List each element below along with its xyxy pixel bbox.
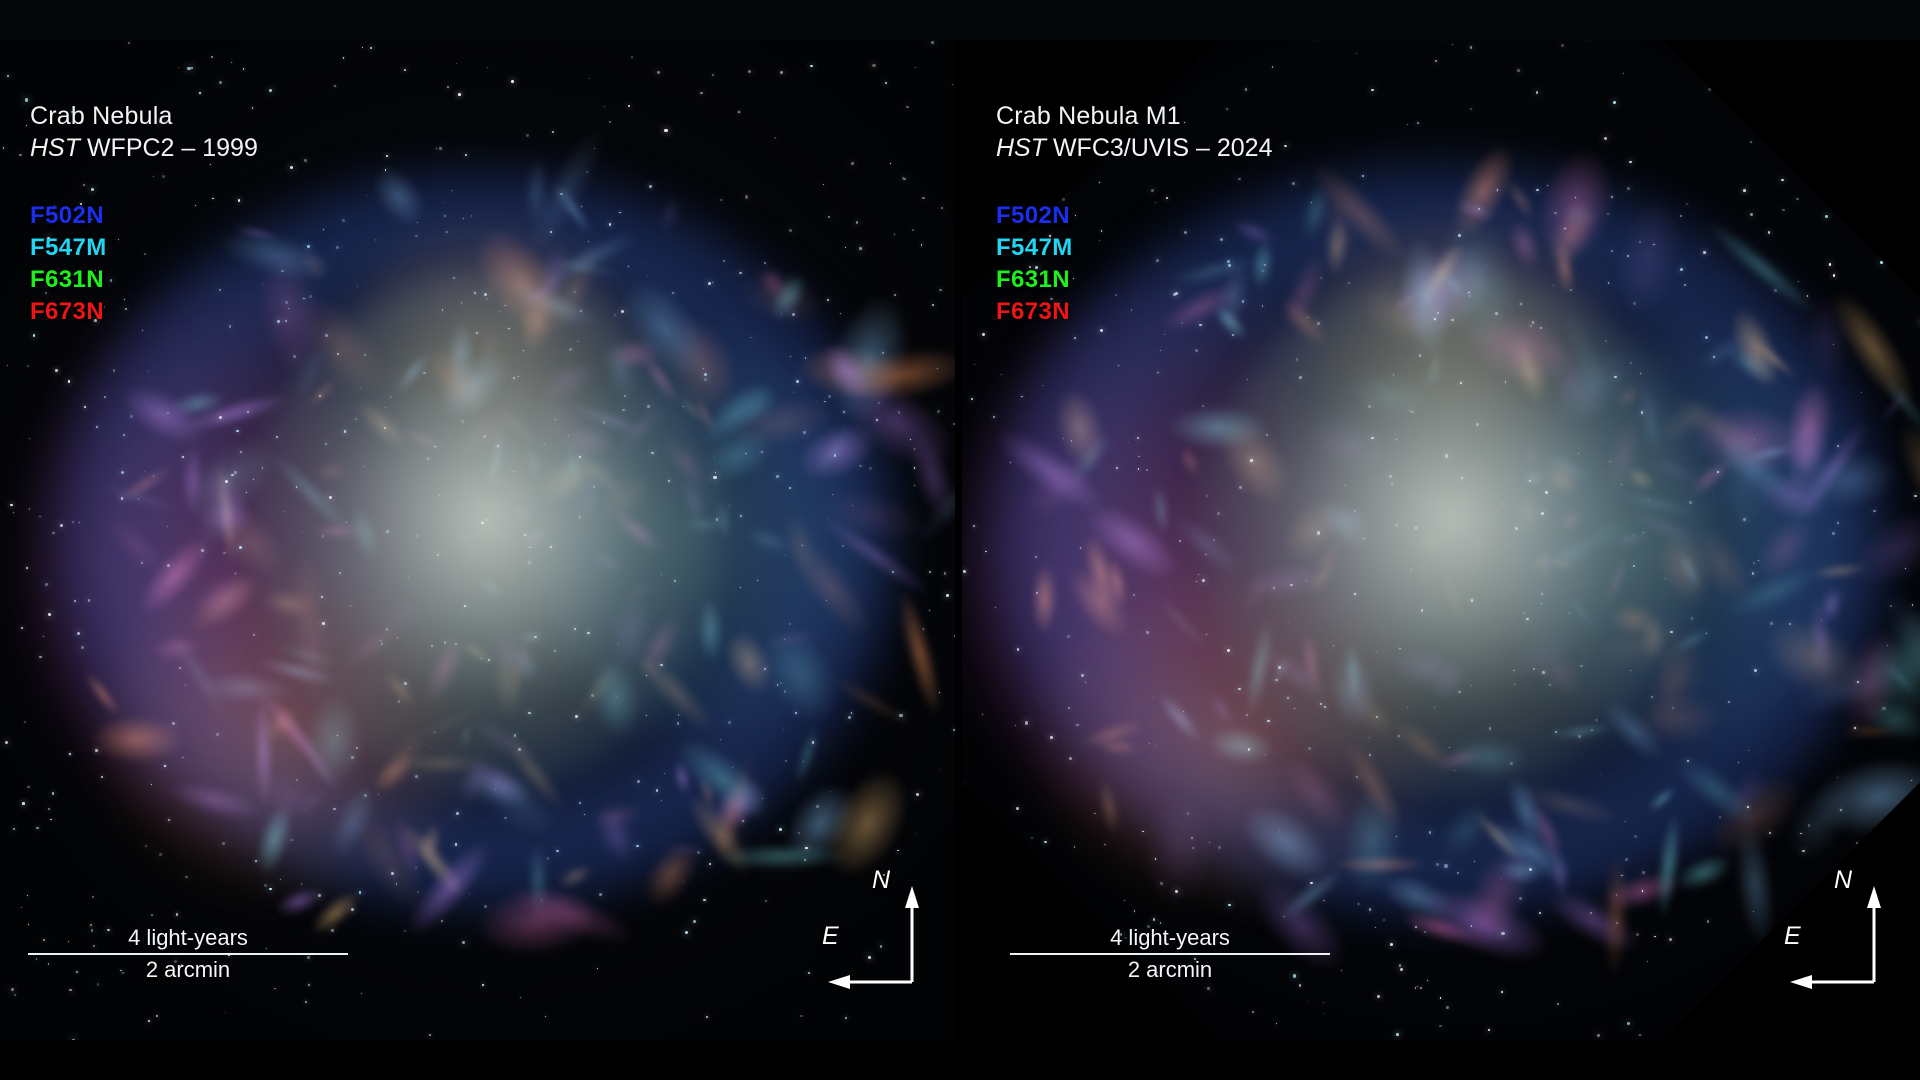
scale-distance-label: 4 light-years — [28, 925, 348, 951]
letterbox-top — [0, 0, 1920, 40]
scale-angle-label: 2 arcmin — [28, 957, 348, 983]
scale-bar-left: 4 light-years 2 arcmin — [28, 925, 348, 982]
panel-subtitle: HST WFPC2 – 1999 — [30, 134, 258, 163]
wfc3-footprint-region — [962, 40, 1920, 1040]
filter-f631n: F631N — [996, 264, 1073, 296]
instrument-name: HST — [996, 134, 1046, 162]
scale-rule — [28, 953, 348, 955]
panel-subtitle: HST WFC3/UVIS – 2024 — [996, 134, 1272, 163]
panel-divider — [955, 40, 962, 1040]
nebula-right — [962, 40, 1920, 1040]
figure-canvas: Crab Nebula HST WFPC2 – 1999 F502N F547M… — [0, 0, 1920, 1080]
nebula-filament-texture-right — [972, 152, 1910, 948]
instrument-detail: WFC3/UVIS – 2024 — [1046, 134, 1272, 162]
panel-right-wfc3: Crab Nebula M1 HST WFC3/UVIS – 2024 F502… — [962, 40, 1920, 1040]
panel-title: Crab Nebula M1 — [996, 102, 1272, 131]
instrument-detail: WFPC2 – 1999 — [80, 134, 258, 162]
scale-angle-label: 2 arcmin — [1010, 957, 1330, 983]
wfc3-footprint-content — [962, 40, 1920, 1040]
compass-right: N E — [1782, 870, 1892, 990]
scale-distance-label: 4 light-years — [1010, 925, 1330, 951]
compass-east-label: E — [822, 922, 839, 951]
letterbox-bottom — [0, 1040, 1920, 1080]
filter-f547m: F547M — [996, 232, 1073, 264]
header-left: Crab Nebula HST WFPC2 – 1999 — [30, 102, 258, 163]
nebula-left — [0, 40, 955, 1040]
filter-f673n: F673N — [30, 296, 107, 328]
compass-north-label: N — [872, 866, 890, 895]
panel-left-wfpc2: Crab Nebula HST WFPC2 – 1999 F502N F547M… — [0, 40, 955, 1040]
filter-f547m: F547M — [30, 232, 107, 264]
filter-legend-left: F502N F547M F631N F673N — [30, 200, 107, 329]
compass-east-label: E — [1784, 922, 1801, 951]
filter-f673n: F673N — [996, 296, 1073, 328]
filter-legend-right: F502N F547M F631N F673N — [996, 200, 1073, 329]
filter-f502n: F502N — [996, 200, 1073, 232]
scale-bar-right: 4 light-years 2 arcmin — [1010, 925, 1330, 982]
panel-title: Crab Nebula — [30, 102, 258, 131]
header-right: Crab Nebula M1 HST WFC3/UVIS – 2024 — [996, 102, 1272, 163]
nebula-filament-texture-left — [38, 160, 917, 940]
filter-f631n: F631N — [30, 264, 107, 296]
scale-rule — [1010, 953, 1330, 955]
filter-f502n: F502N — [30, 200, 107, 232]
compass-left: N E — [820, 870, 930, 990]
instrument-name: HST — [30, 134, 80, 162]
compass-north-label: N — [1834, 866, 1852, 895]
